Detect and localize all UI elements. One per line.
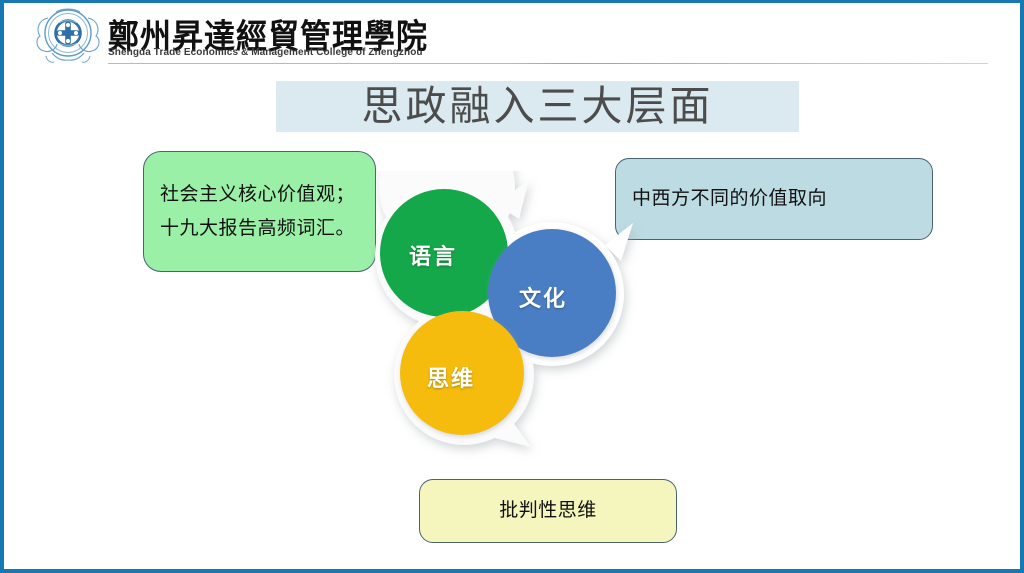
callout-core-values-line-2: 十九大报告高频词汇。 bbox=[160, 212, 375, 245]
callout-core-values: 社会主义核心价值观； 十九大报告高频词汇。 bbox=[143, 151, 376, 272]
bubble-thinking[interactable] bbox=[400, 311, 524, 435]
callout-value-orientation-line-1: 中西方不同的价值取向 bbox=[632, 182, 932, 215]
slide-header: 鄭州昇達經貿管理學院 Shengda Trade Economics & Man… bbox=[4, 3, 1020, 65]
presentation-slide: 鄭州昇達經貿管理學院 Shengda Trade Economics & Man… bbox=[0, 0, 1024, 573]
slide-title-band: 思政融入三大层面 bbox=[276, 81, 799, 132]
three-layer-bubble-diagram: 语言 文化 思维 bbox=[369, 171, 649, 471]
callout-value-orientation: 中西方不同的价值取向 bbox=[615, 158, 933, 240]
callout-critical-thinking-line-1: 批判性思维 bbox=[499, 494, 597, 527]
callout-critical-thinking: 批判性思维 bbox=[419, 479, 677, 543]
school-emblem-icon bbox=[26, 6, 110, 64]
header-divider bbox=[108, 63, 988, 64]
slide-title: 思政融入三大层面 bbox=[362, 86, 714, 127]
school-name-english: Shengda Trade Economics & Management Col… bbox=[108, 47, 423, 58]
callout-core-values-line-1: 社会主义核心价值观； bbox=[160, 178, 375, 211]
